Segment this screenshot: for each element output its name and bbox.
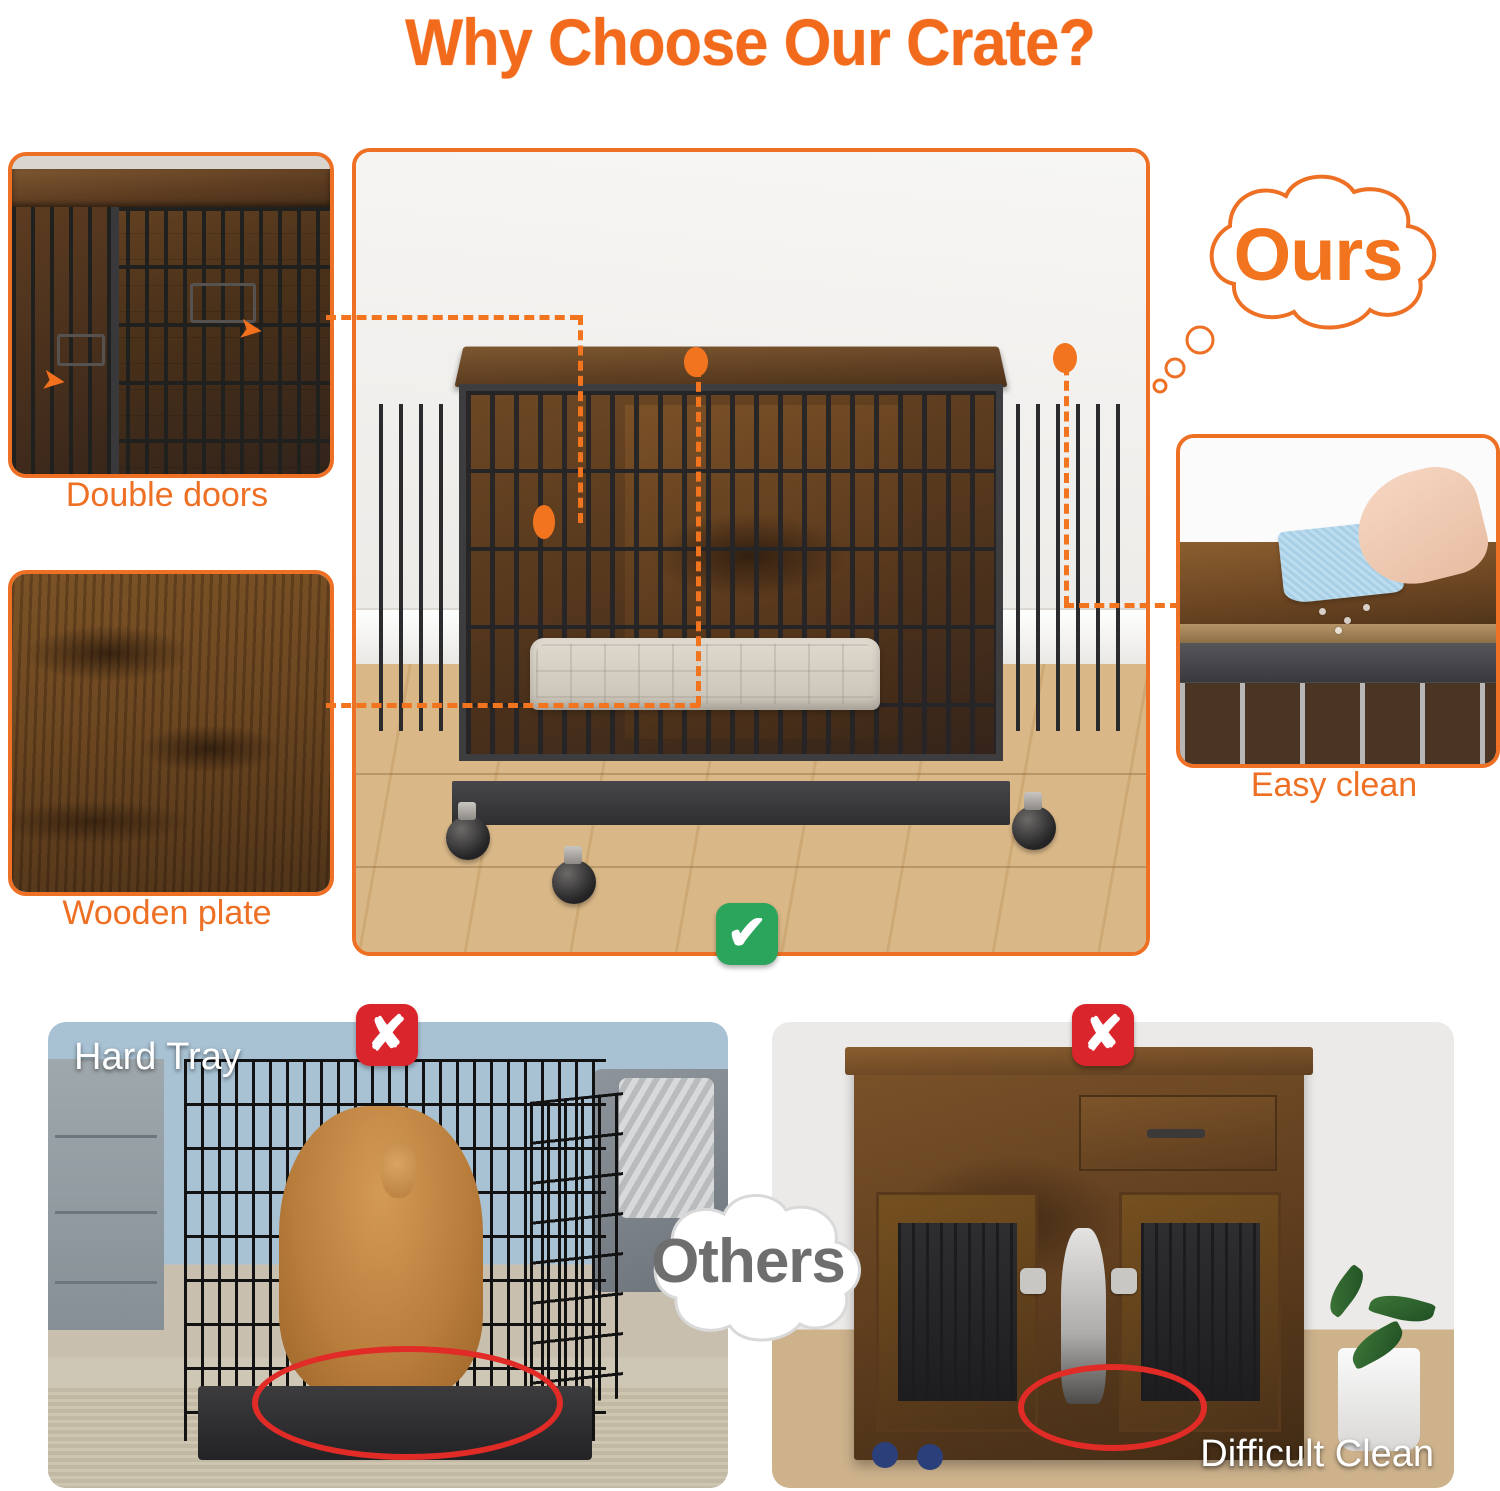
dog-crate-furniture [419, 344, 1083, 840]
connector-line-easy-clean [1064, 603, 1180, 608]
connector-dot-easy-clean [1053, 343, 1077, 373]
crate-bottom-tray [452, 781, 1009, 826]
problem-highlight-ellipse [1018, 1364, 1207, 1451]
caster-wheel [446, 816, 490, 860]
cabinet-door-left [876, 1192, 1038, 1432]
arrow-indicator-right-icon: ➤ [236, 313, 265, 346]
caster-wheel [1012, 806, 1056, 850]
page-title: Why Choose Our Crate? [53, 4, 1448, 80]
background-shelf [48, 1059, 164, 1329]
rejected-cross-icon-left: ✘ [356, 1004, 418, 1066]
crate-bars-below [1180, 683, 1496, 765]
others-thought-bubble: Others [618, 1178, 878, 1362]
connector-dot-double-doors [533, 505, 555, 539]
easy-clean-image [1180, 438, 1496, 764]
feature-panel-double-doors: ➤ ➤ [8, 152, 334, 478]
cabinet-caster [872, 1442, 898, 1468]
caption-wooden-plate: Wooden plate [8, 894, 326, 933]
crate-tabletop [454, 347, 1007, 387]
crate-wood-top [12, 169, 330, 207]
pet-cushion [530, 638, 880, 711]
connector-line-wooden-plate-vertical [696, 352, 701, 706]
infographic-root: Why Choose Our Crate? ➤ ➤ Double doors W… [0, 0, 1500, 1491]
others-label: Others [618, 1226, 878, 1297]
caption-easy-clean: Easy clean [1176, 766, 1492, 805]
frame-post [111, 207, 119, 474]
wire-crate-door [530, 1093, 623, 1408]
rejected-cross-icon-right: ✘ [1072, 1004, 1134, 1066]
plant-leaf [1367, 1288, 1435, 1329]
feature-panel-wooden-plate [8, 570, 334, 896]
cabinet-caster [917, 1444, 943, 1470]
wooden-plate-image [12, 574, 330, 892]
double-doors-image: ➤ ➤ [12, 156, 330, 474]
problem-highlight-ellipse [252, 1346, 563, 1461]
connector-line-easy-clean-vertical [1064, 350, 1069, 606]
door-hinge-left [1020, 1268, 1046, 1294]
water-drop [1335, 627, 1342, 634]
dog-head [381, 1141, 416, 1199]
approved-check-icon: ✔ [716, 903, 778, 965]
cabinet-drawer [1079, 1095, 1277, 1171]
feature-panel-easy-clean [1176, 434, 1500, 768]
floor-seam [356, 866, 1146, 868]
door-hinge-right [1111, 1268, 1137, 1294]
water-drop [1319, 608, 1326, 615]
ours-label: Ours [1168, 212, 1468, 297]
plant-leaf [1321, 1263, 1370, 1318]
label-difficult-clean: Difficult Clean [1200, 1433, 1434, 1476]
connector-line-double-doors-vertical [578, 315, 583, 523]
connector-line-wooden-plate [326, 703, 700, 708]
ours-bubble-trail [1150, 320, 1230, 400]
door-mesh-left [898, 1223, 1017, 1401]
door-latch-left [57, 334, 105, 366]
connector-line-double-doors [326, 315, 580, 320]
caption-double-doors: Double doors [8, 476, 326, 515]
crate-right-door-panel [1016, 404, 1135, 731]
hero-room-scene [356, 152, 1146, 952]
connector-dot-wooden-plate [684, 347, 708, 377]
hero-product-panel [352, 148, 1150, 956]
crate-frame-rail [1180, 643, 1496, 682]
arrow-indicator-left-icon: ➤ [39, 364, 68, 397]
label-hard-tray: Hard Tray [74, 1036, 241, 1079]
